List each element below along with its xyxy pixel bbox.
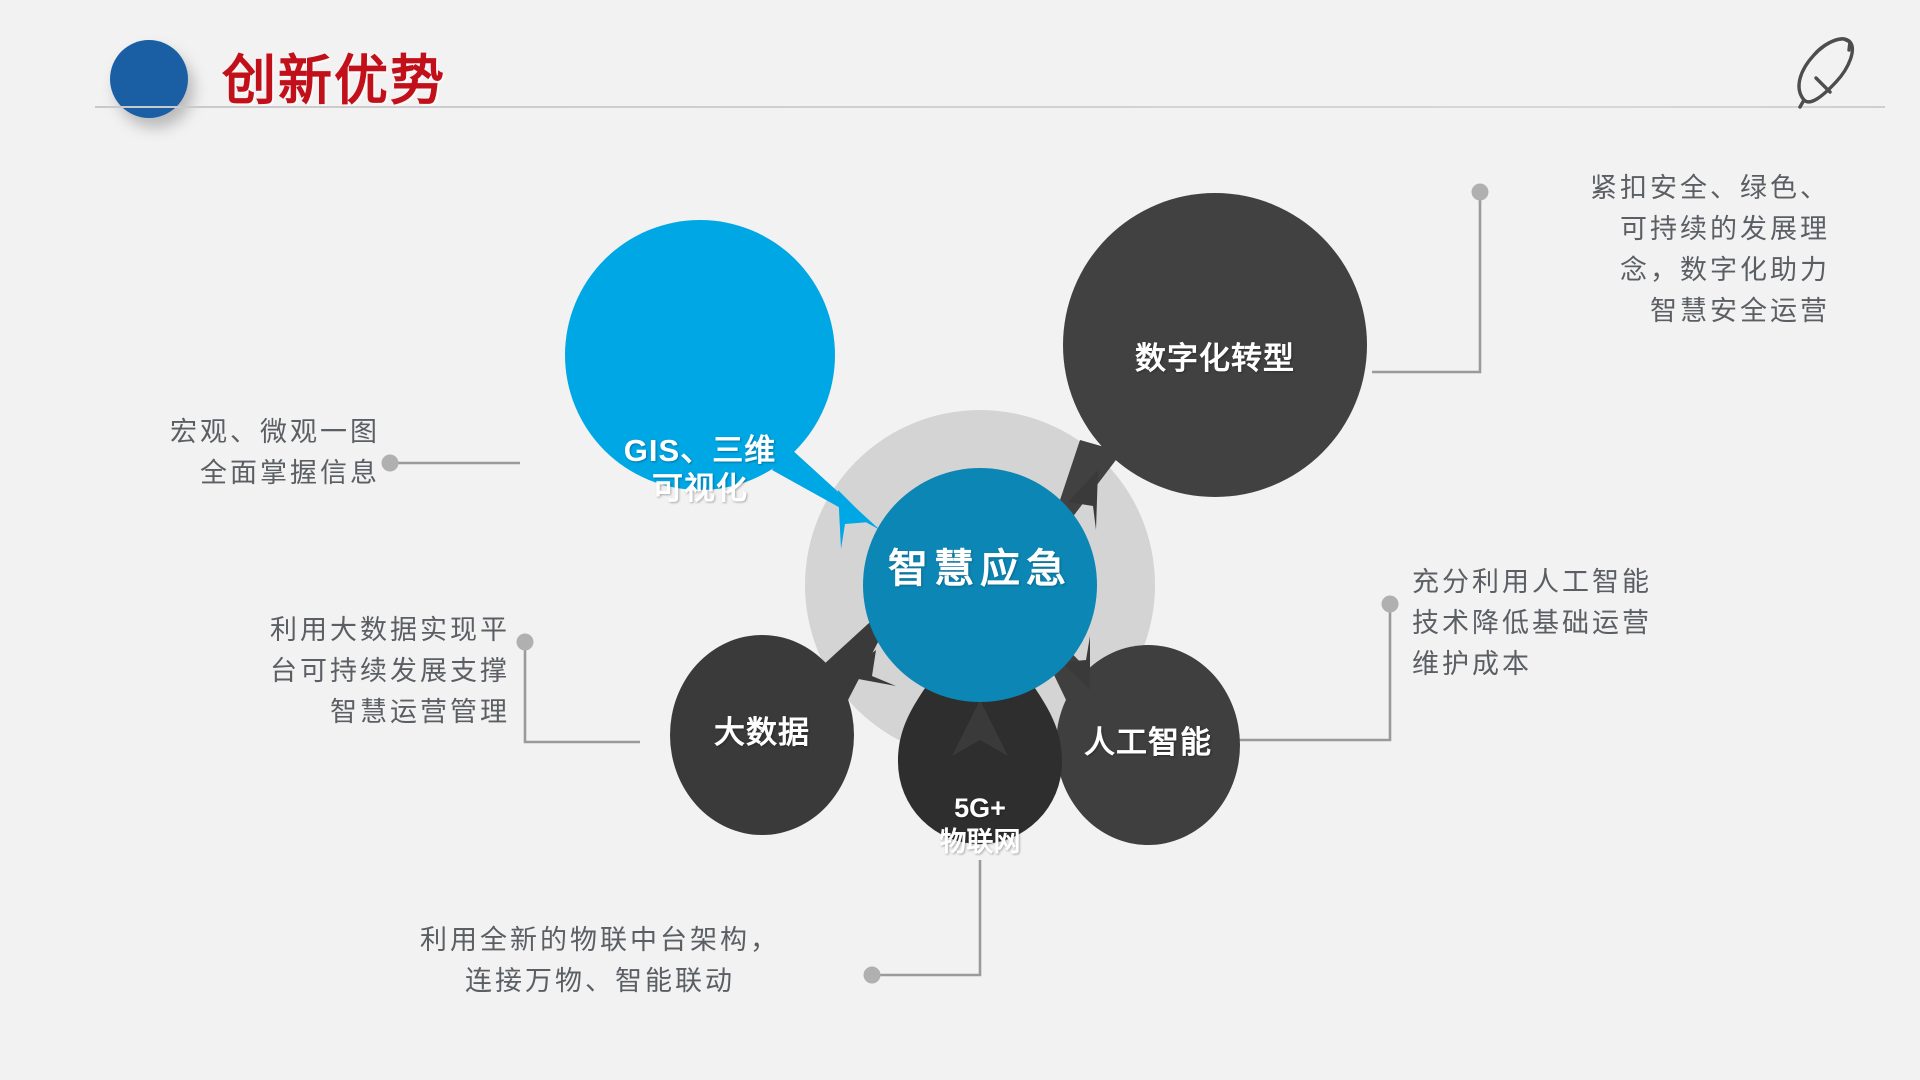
- note-bd: 利用大数据实现平 台可持续发展支撑 智慧运营管理: [130, 610, 510, 733]
- slide-canvas: 创新优势: [0, 0, 1920, 1080]
- innovation-advantage-diagram: [0, 0, 1920, 1080]
- hub-core[interactable]: [863, 468, 1097, 702]
- connector-dx: [1372, 192, 1480, 372]
- note-ai: 充分利用人工智能 技术降低基础运营 维护成本: [1412, 562, 1812, 685]
- connector-dot-ai: [1382, 596, 1399, 613]
- node-gis[interactable]: [565, 220, 880, 530]
- note-dx: 紧扣安全、绿色、 可持续的发展理 念，数字化助力 智慧安全运营: [1490, 168, 1830, 332]
- connector-dot-gis: [382, 455, 399, 472]
- connector-ai: [1222, 604, 1390, 740]
- connector-dot-dx: [1472, 184, 1489, 201]
- note-iot: 利用全新的物联中台架构， 连接万物、智能联动: [340, 920, 860, 1002]
- connector-iot: [872, 860, 980, 975]
- note-gis: 宏观、微观一图 全面掌握信息: [40, 412, 380, 494]
- connector-dot-bd: [517, 634, 534, 651]
- connector-bd: [525, 642, 640, 742]
- connector-dot-iot: [864, 967, 881, 984]
